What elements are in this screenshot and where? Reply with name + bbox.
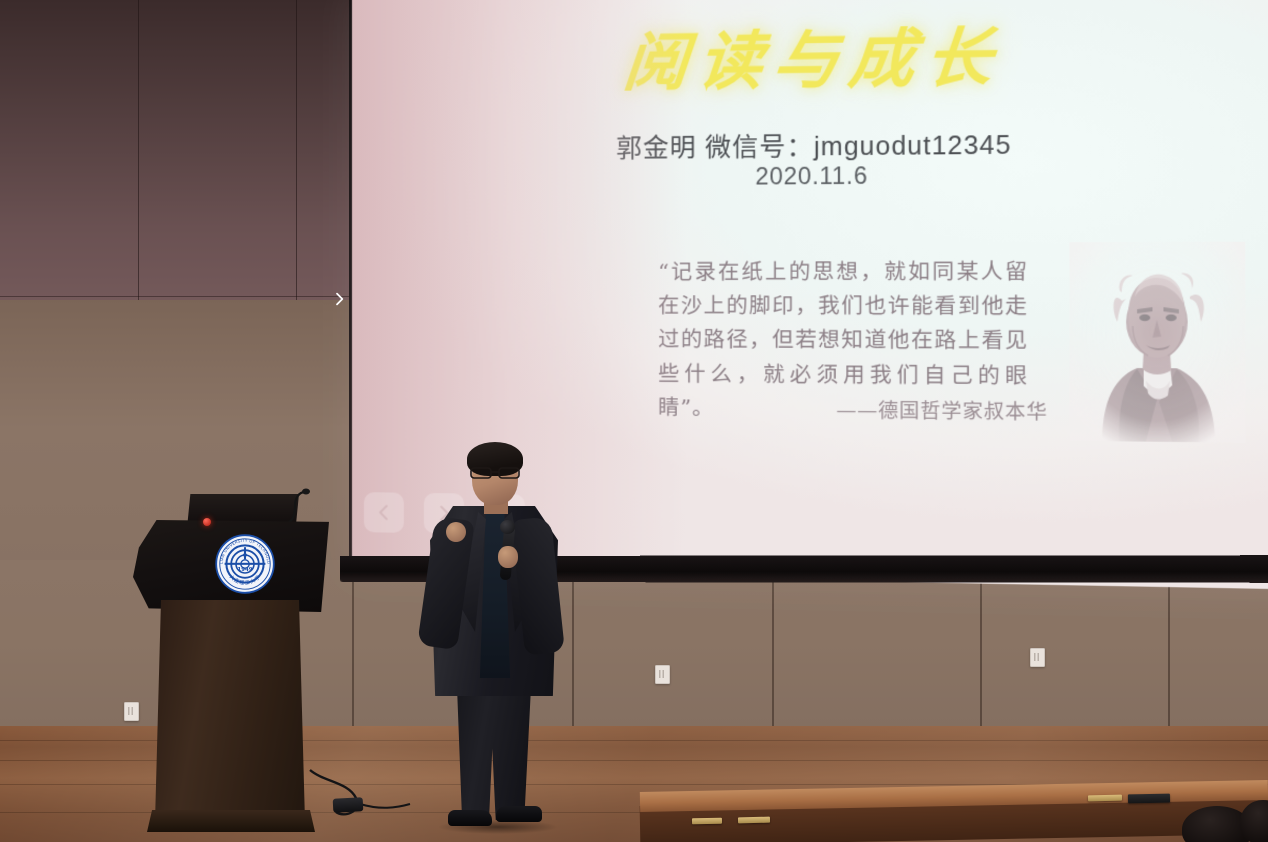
presenter-legs [452, 688, 536, 820]
wall-seam [980, 566, 982, 738]
stage-edge-marker [738, 817, 770, 824]
stage-edge-marker [1128, 794, 1170, 804]
wall-seam [772, 572, 774, 740]
presenter-shoe-right [496, 806, 542, 822]
lectern-base [147, 810, 315, 832]
schopenhauer-portrait-image [1069, 242, 1245, 443]
slide-quote-attribution: ——德国哲学家叔本华 [781, 395, 1048, 425]
gooseneck-microphone [255, 488, 311, 524]
slide-title: 阅读与成长 [348, 0, 1268, 106]
presenter [424, 438, 564, 832]
lectern-power-led [203, 518, 211, 526]
emblem-year: 1949 [237, 567, 252, 573]
stage-edge-marker [692, 818, 722, 825]
screen-edge-chevron-icon [330, 284, 348, 314]
power-outlet [655, 665, 670, 684]
microphone-head [500, 520, 515, 534]
power-adapter [333, 797, 364, 813]
stage-edge-marker [1088, 795, 1122, 802]
wall-seam [0, 296, 352, 297]
presenter-hand-left [446, 522, 466, 542]
eyeglasses-icon [470, 466, 520, 478]
wall-seam [572, 580, 574, 740]
slide-date: 2020.11.6 [352, 159, 1268, 193]
dalian-university-of-technology-emblem: 1949 DALIAN UNIVERSITY OF TECHNOLOGY 大连理… [215, 534, 275, 594]
power-outlet [1030, 648, 1045, 667]
presenter-hand-right [498, 546, 518, 568]
slide-prev-button[interactable] [364, 492, 404, 533]
lecture-hall-photo: 阅读与成长 郭金明 微信号：jmguodut12345 2020.11.6 “记… [0, 0, 1268, 842]
presenter-shoe-left [448, 810, 492, 826]
chevron-left-icon [373, 501, 395, 523]
lectern-body [155, 600, 305, 822]
